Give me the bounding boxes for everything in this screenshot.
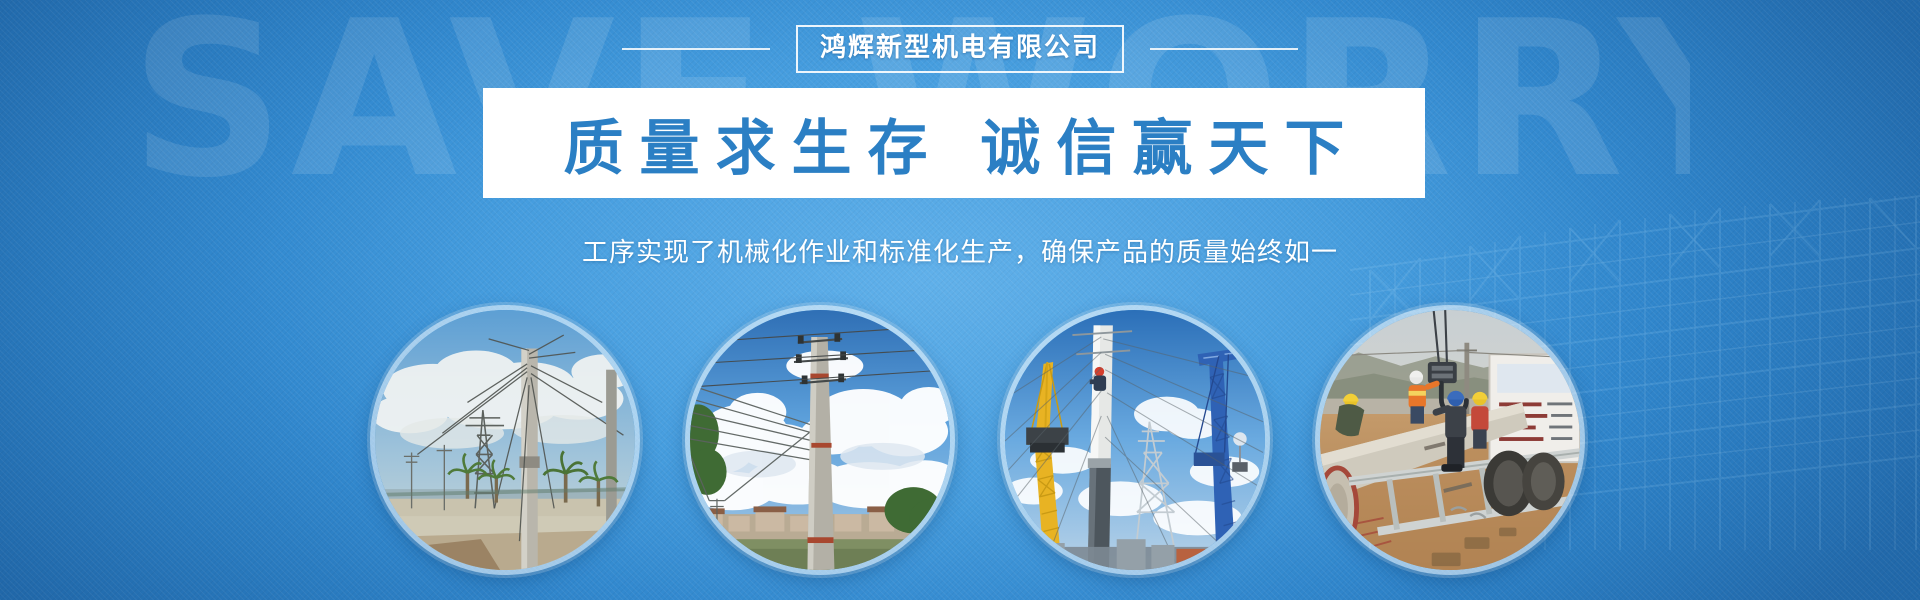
photo-2-image	[690, 310, 950, 570]
company-name: 鸿辉新型机电有限公司	[796, 25, 1124, 74]
photo-1-image	[375, 310, 635, 570]
photo-circle-1[interactable]	[370, 305, 640, 575]
photo-circle-2[interactable]	[685, 305, 955, 575]
subtitle-text: 工序实现了机械化作业和标准化生产，确保产品的质量始终如一	[0, 232, 1920, 272]
slogan-panel: 质量求生存 诚信赢天下	[483, 88, 1425, 198]
rule-left-icon	[622, 48, 770, 50]
photo-circle-4[interactable]	[1315, 305, 1585, 575]
photo-gallery	[0, 300, 1920, 600]
photo-circle-3[interactable]	[1000, 305, 1270, 575]
rule-right-icon	[1150, 48, 1298, 50]
promo-banner: SAVE WORRY 鸿辉新型机电有限公司 质量求生存 诚信赢天下 工序实现了机…	[0, 0, 1920, 600]
slogan-text: 质量求生存 诚信赢天下	[548, 100, 1361, 187]
company-name-row: 鸿辉新型机电有限公司	[0, 24, 1920, 74]
photo-3-image	[1005, 310, 1265, 570]
photo-4-image	[1320, 310, 1580, 570]
worker-yellow	[1471, 392, 1488, 449]
